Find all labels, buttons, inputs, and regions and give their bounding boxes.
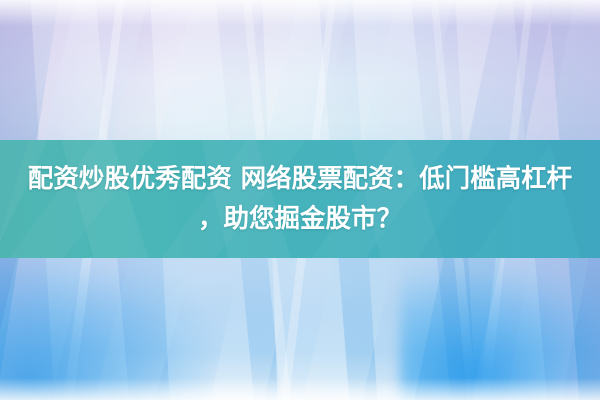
promotional-banner: 配资炒股优秀配资 网络股票配资：低门槛高杠杆 ，助您掘金股市？ bbox=[0, 0, 600, 400]
headline-text-container: 配资炒股优秀配资 网络股票配资：低门槛高杠杆 ，助您掘金股市？ bbox=[0, 140, 600, 258]
headline-line-2: ，助您掘金股市？ bbox=[198, 199, 402, 239]
headline-line-1: 配资炒股优秀配资 网络股票配资：低门槛高杠杆 bbox=[28, 159, 572, 199]
